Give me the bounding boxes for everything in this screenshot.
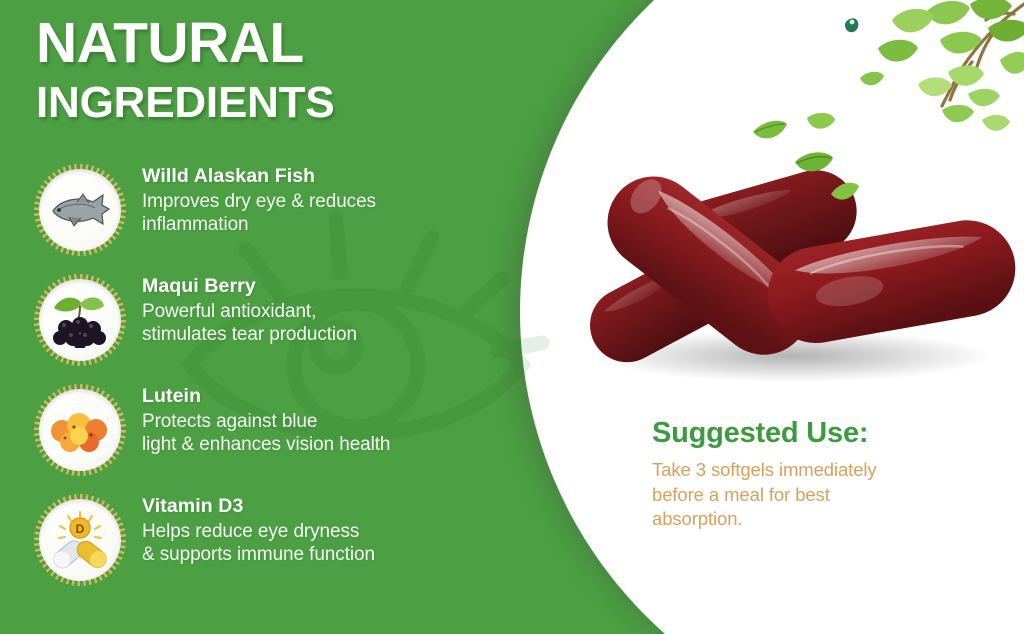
vitamin-d3-icon: D — [46, 508, 114, 572]
ingredient-badge: D — [34, 494, 126, 586]
ingredient-description: Protects against blue light & enhances v… — [142, 410, 390, 457]
ingredient-description: Powerful antioxidant, stimulates tear pr… — [142, 300, 357, 347]
list-item[interactable]: Maqui Berry Powerful antioxidant, stimul… — [34, 270, 514, 366]
page-title: NATURAL INGREDIENTS — [36, 16, 506, 127]
fish-icon — [47, 190, 113, 230]
suggested-use-body: Take 3 softgels immediately before a mea… — [652, 458, 992, 532]
ingredient-title: Maqui Berry — [142, 276, 357, 298]
ingredient-title: Vitamin D3 — [142, 496, 375, 518]
list-item[interactable]: Lutein Protects against blue light & enh… — [34, 380, 514, 476]
title-line-2: INGREDIENTS — [36, 78, 506, 127]
suggested-use-block: Suggested Use: Take 3 softgels immediate… — [652, 418, 992, 532]
badge-disc: D — [39, 499, 121, 581]
title-line-1: NATURAL — [36, 16, 506, 72]
list-item[interactable]: D Vitamin D3 Helps reduce eye dryness — [34, 490, 514, 586]
ingredient-description: Helps reduce eye dryness & supports immu… — [142, 520, 375, 567]
leaf-branch-icon — [830, 0, 1024, 174]
ingredient-text: Willd Alaskan Fish Improves dry eye & re… — [126, 160, 376, 237]
badge-disc — [39, 389, 121, 471]
ingredient-title: Lutein — [142, 386, 390, 408]
ingredient-text: Lutein Protects against blue light & enh… — [126, 380, 390, 457]
suggested-use-title: Suggested Use: — [652, 418, 992, 450]
badge-disc — [39, 279, 121, 361]
list-item[interactable]: Willd Alaskan Fish Improves dry eye & re… — [34, 160, 514, 256]
badge-disc — [39, 169, 121, 251]
ingredient-text: Maqui Berry Powerful antioxidant, stimul… — [126, 270, 357, 347]
berry-icon — [46, 292, 114, 348]
ingredient-list: Willd Alaskan Fish Improves dry eye & re… — [34, 160, 514, 600]
ingredient-badge — [34, 384, 126, 476]
svg-text:D: D — [76, 522, 85, 536]
ingredient-title: Willd Alaskan Fish — [142, 166, 376, 188]
ingredient-description: Improves dry eye & reduces inflammation — [142, 190, 376, 237]
ingredient-badge — [34, 164, 126, 256]
ingredients-poster: NATURAL INGREDIENTS Willd Alaska — [0, 0, 1024, 634]
ingredient-text: Vitamin D3 Helps reduce eye dryness & su… — [126, 490, 375, 567]
marigold-icon — [46, 405, 114, 455]
ingredient-badge — [34, 274, 126, 366]
